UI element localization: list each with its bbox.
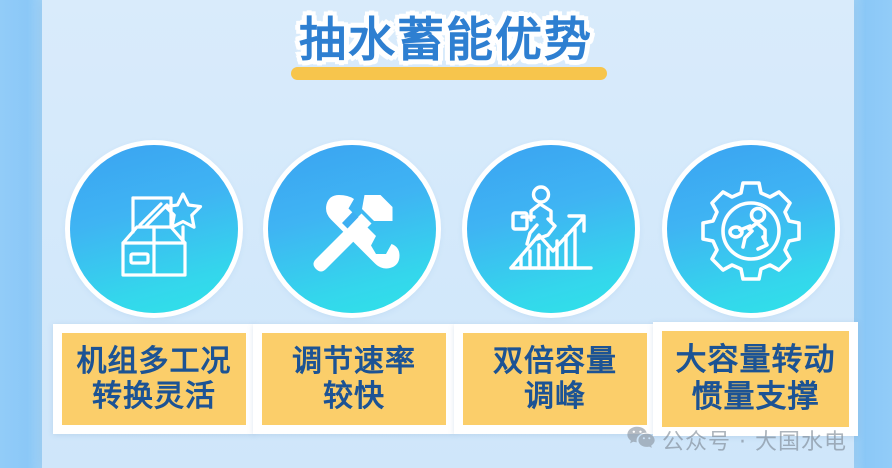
advantage-card-3[interactable]: 双倍容量 调峰 [454, 324, 656, 434]
advantage-card-1[interactable]: 机组多工况 转换灵活 [53, 324, 255, 434]
advantage-card-4[interactable]: 大容量转动 惯量支撑 [653, 322, 858, 436]
left-decorative-band [0, 0, 46, 468]
watermark-text: 公众号 · 大国水电 [662, 424, 847, 456]
advantage-label-1: 机组多工况 转换灵活 [77, 344, 232, 415]
watermark: 公众号 · 大国水电 [627, 424, 847, 456]
advantage-badge-4[interactable] [667, 145, 835, 313]
hammer-and-wrench-icon [298, 175, 406, 283]
poster-root: 抽水蓄能优势 [0, 0, 892, 468]
advantage-badge-2[interactable] [268, 145, 436, 313]
advantage-badge-3[interactable] [467, 145, 635, 313]
advantage-label-3: 双倍容量 调峰 [493, 344, 617, 415]
box-with-star-icon [99, 174, 209, 284]
person-climbing-growth-chart-icon [495, 173, 607, 285]
advantage-label-2: 调节速率 较快 [292, 344, 416, 415]
wechat-icon [627, 426, 655, 455]
advantage-badge-1[interactable] [70, 145, 238, 313]
page-title: 抽水蓄能优势 [299, 12, 593, 70]
advantage-card-2[interactable]: 调节速率 较快 [253, 324, 455, 434]
advantage-label-4: 大容量转动 惯量支撑 [676, 342, 836, 415]
gear-with-person-icon [695, 173, 807, 285]
